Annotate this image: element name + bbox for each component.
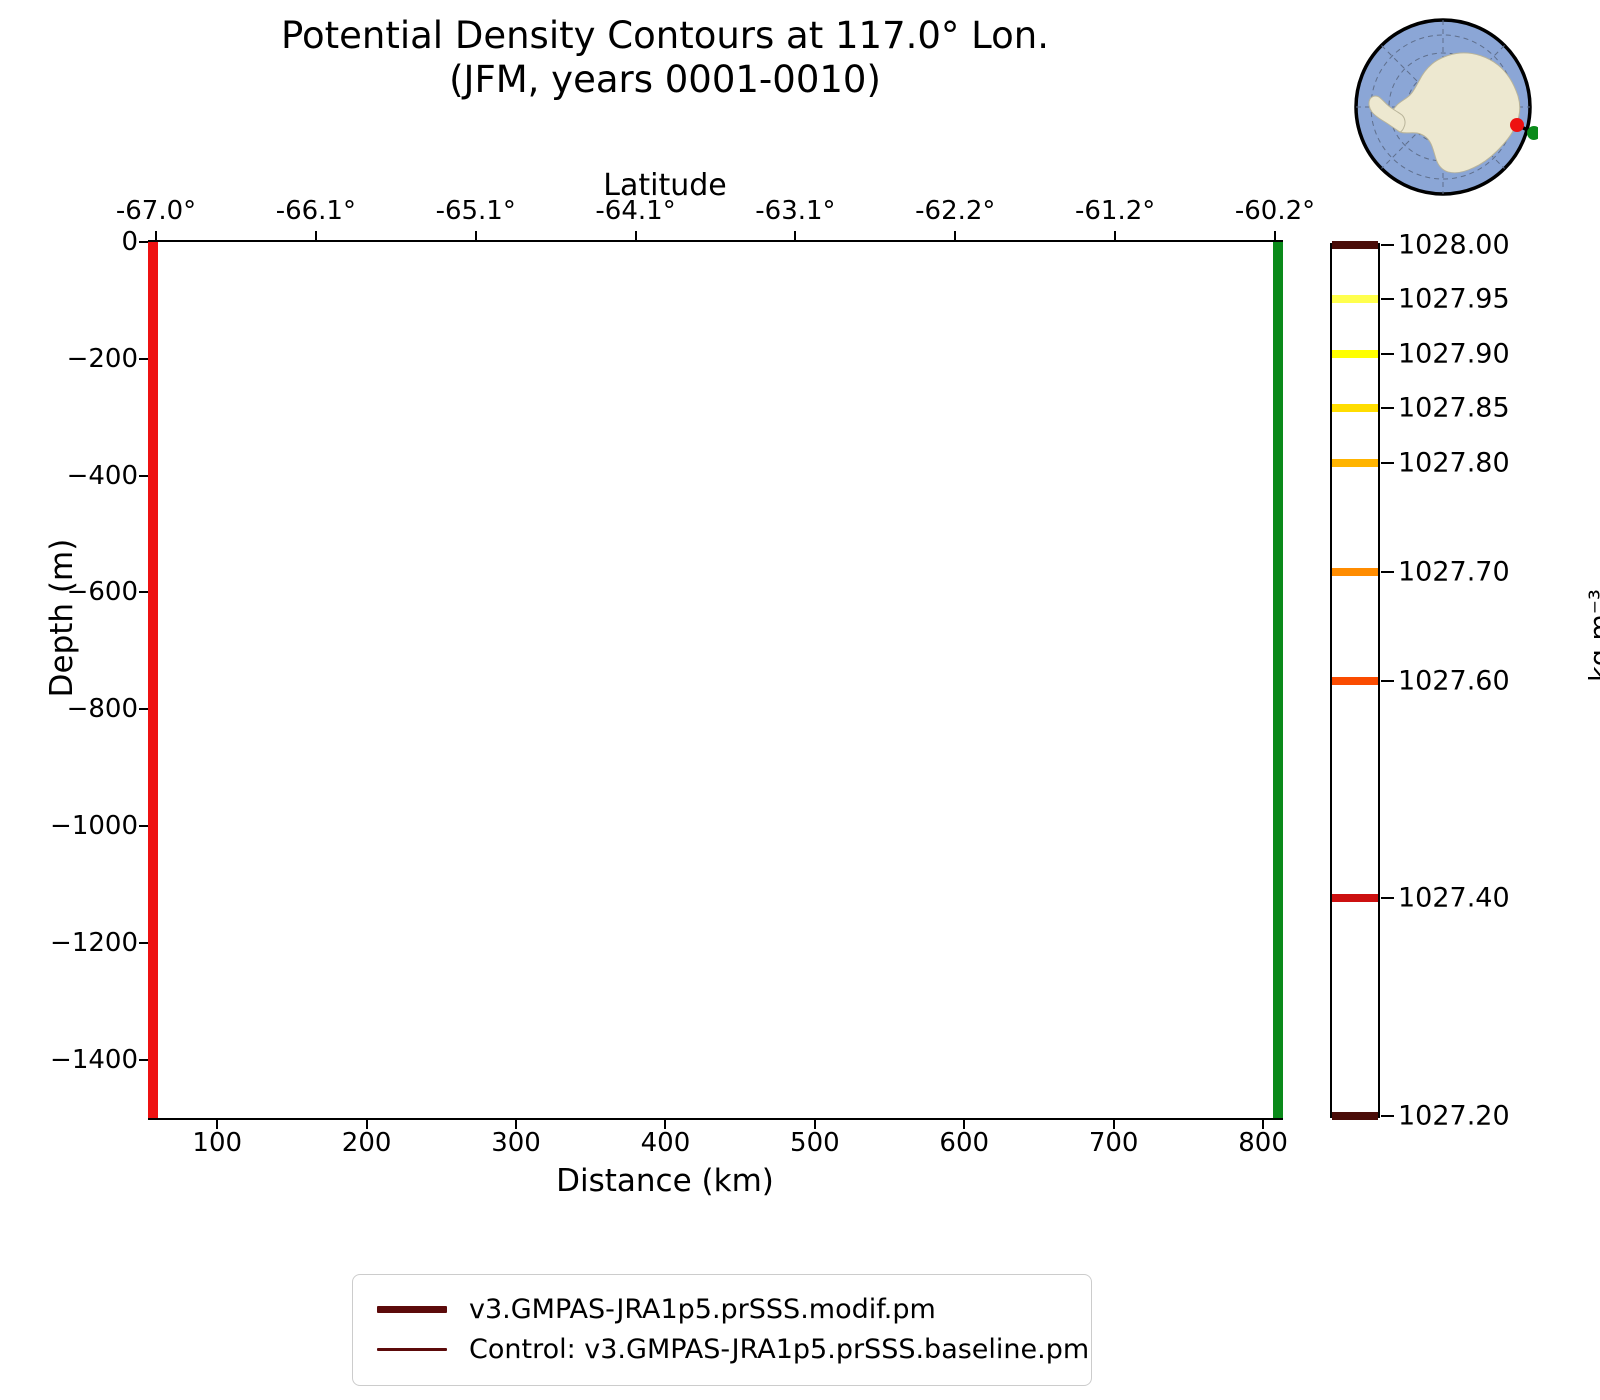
legend-line-swatch-baseline xyxy=(373,1348,451,1351)
depth-tick-label: −1200 xyxy=(50,928,138,958)
distance-tick-label: 600 xyxy=(939,1128,989,1158)
depth-tick-label: −400 xyxy=(67,461,138,491)
distance-tick-label: 100 xyxy=(192,1128,242,1158)
latitude-tick-label: -67.0° xyxy=(116,196,196,226)
colorbar-tick-label: 1028.00 xyxy=(1398,230,1510,261)
legend-entry-baseline[interactable]: Control: v3.GMPAS-JRA1p5.prSSS.baseline.… xyxy=(373,1329,1071,1369)
colorbar-band-1027.20 xyxy=(1332,1112,1378,1120)
distance-tick-label: 200 xyxy=(342,1128,392,1158)
colorbar-tick-mark xyxy=(1381,298,1394,300)
distance-tick-label: 400 xyxy=(641,1128,691,1158)
distance-tick-label: 800 xyxy=(1238,1128,1288,1158)
latitude-tick-label: -65.1° xyxy=(436,196,516,226)
latitude-tick-label: -61.2° xyxy=(1075,196,1155,226)
colorbar-band-1027.95 xyxy=(1332,295,1378,303)
colorbar-tick-label: 1027.95 xyxy=(1398,284,1510,315)
colorbar-tick-label: 1027.60 xyxy=(1398,665,1510,696)
antarctica-inset-map xyxy=(1348,12,1538,202)
latitude-tick-label: -66.1° xyxy=(276,196,356,226)
distance-tick-label: 500 xyxy=(790,1128,840,1158)
colorbar-band-1027.40 xyxy=(1332,894,1378,902)
colorbar-tick-mark xyxy=(1381,1115,1394,1117)
latitude-tick-label: -60.2° xyxy=(1235,196,1315,226)
distance-axis-title: Distance (km) xyxy=(0,1163,1330,1199)
colorbar-band-1027.60 xyxy=(1332,677,1378,685)
depth-tick-label: −200 xyxy=(67,344,138,374)
depth-tick-label: 0 xyxy=(121,227,138,257)
transect-end-line xyxy=(1273,242,1283,1118)
legend-label-modif: v3.GMPAS-JRA1p5.prSSS.modif.pm xyxy=(469,1294,936,1325)
latitude-tick-label: -62.2° xyxy=(915,196,995,226)
colorbar-band-1027.85 xyxy=(1332,404,1378,412)
transect-start-line xyxy=(148,242,158,1118)
latitude-tick-mark xyxy=(475,231,477,242)
latitude-tick-mark xyxy=(794,231,796,242)
colorbar-band-1027.70 xyxy=(1332,568,1378,576)
depth-tick-label: −1000 xyxy=(50,811,138,841)
colorbar-tick-mark xyxy=(1381,244,1394,246)
colorbar-tick-mark xyxy=(1381,353,1394,355)
colorbar-units-label: kg m⁻³ xyxy=(1585,506,1600,766)
colorbar-tick-mark xyxy=(1381,407,1394,409)
latitude-tick-mark xyxy=(155,231,157,242)
latitude-tick-mark xyxy=(635,231,637,242)
chart-title-line1: Potential Density Contours at 117.0° Lon… xyxy=(0,14,1330,58)
legend-entry-modif[interactable]: v3.GMPAS-JRA1p5.prSSS.modif.pm xyxy=(373,1289,1071,1329)
colorbar-tick-label: 1027.70 xyxy=(1398,556,1510,587)
inset-map-svg xyxy=(1348,12,1538,202)
depth-tick-label: −600 xyxy=(67,577,138,607)
colorbar-tick-mark xyxy=(1381,571,1394,573)
transect-start-marker xyxy=(1510,118,1524,132)
colorbar-tick-mark xyxy=(1381,680,1394,682)
chart-title-line2: (JFM, years 0001-0010) xyxy=(0,58,1330,102)
chart-title: Potential Density Contours at 117.0° Lon… xyxy=(0,14,1330,103)
colorbar-tick-label: 1027.85 xyxy=(1398,393,1510,424)
colorbar-band-1027.90 xyxy=(1332,350,1378,358)
colorbar-tick-label: 1027.90 xyxy=(1398,338,1510,369)
colorbar-band-1027.80 xyxy=(1332,459,1378,467)
plot-frame-border xyxy=(148,240,1283,1120)
depth-tick-label: −1400 xyxy=(50,1045,138,1075)
colorbar-tick-mark xyxy=(1381,462,1394,464)
colorbar-tick-label: 1027.80 xyxy=(1398,447,1510,478)
colorbar-tick-label: 1027.40 xyxy=(1398,883,1510,914)
depth-tick-label: −800 xyxy=(67,694,138,724)
latitude-tick-label: -63.1° xyxy=(755,196,835,226)
latitude-tick-label: -64.1° xyxy=(595,196,675,226)
latitude-tick-mark xyxy=(1114,231,1116,242)
colorbar-tick-label: 1027.20 xyxy=(1398,1101,1510,1132)
colorbar-band-1028.00 xyxy=(1332,241,1378,249)
distance-tick-label: 300 xyxy=(491,1128,541,1158)
latitude-tick-mark xyxy=(1274,231,1276,242)
colorbar-tick-mark xyxy=(1381,897,1394,899)
plot-legend: v3.GMPAS-JRA1p5.prSSS.modif.pm Control: … xyxy=(352,1274,1092,1386)
latitude-tick-mark xyxy=(315,231,317,242)
legend-line-swatch-modif xyxy=(373,1306,451,1313)
latitude-tick-mark xyxy=(954,231,956,242)
legend-label-baseline: Control: v3.GMPAS-JRA1p5.prSSS.baseline.… xyxy=(469,1334,1089,1365)
distance-tick-label: 700 xyxy=(1089,1128,1139,1158)
